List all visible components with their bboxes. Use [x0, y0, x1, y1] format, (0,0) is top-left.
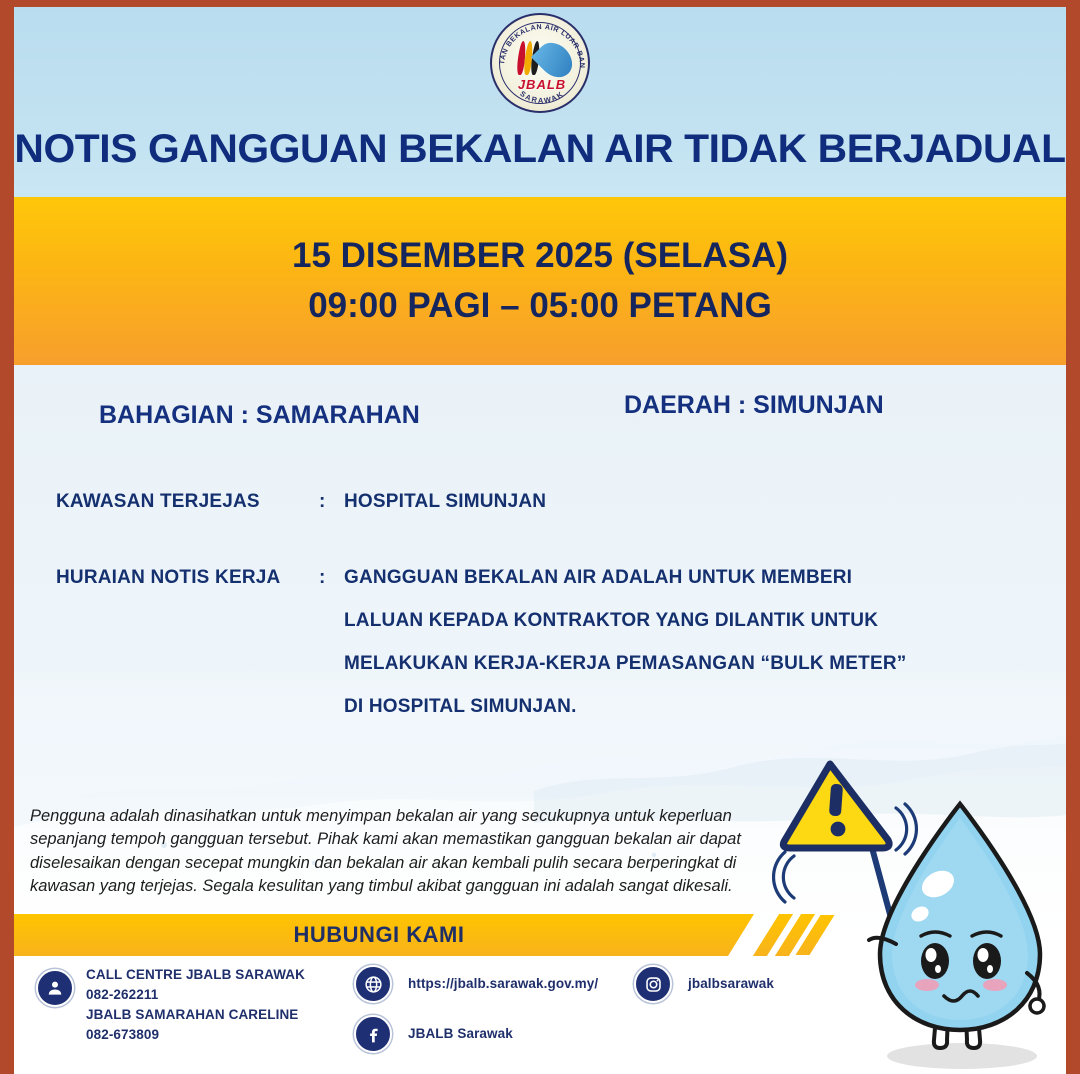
poster-frame: JABATAN BEKALAN AIR LUAR BANDAR SARAWAK … — [0, 0, 1080, 1074]
person-icon — [36, 969, 74, 1007]
call-centre-line-4: 082-673809 — [86, 1025, 305, 1045]
affected-area-label: KAWASAN TERJEJAS — [56, 491, 260, 513]
works-description-label: HURAIAN NOTIS KERJA — [56, 567, 280, 589]
instagram-icon[interactable] — [634, 965, 672, 1003]
poster-header: JABATAN BEKALAN AIR LUAR BANDAR SARAWAK … — [14, 7, 1066, 197]
works-description-line-4: DI HOSPITAL SIMUNJAN. — [344, 696, 577, 718]
works-description-line-2: LALUAN KEPADA KONTRAKTOR YANG DILANTIK U… — [344, 610, 878, 632]
globe-icon[interactable] — [354, 965, 392, 1003]
website-url[interactable]: https://jbalb.sarawak.gov.my/ — [408, 974, 598, 994]
works-description-line-3: MELAKUKAN KERJA-KERJA PEMASANGAN “BULK M… — [344, 653, 906, 675]
instagram-handle[interactable]: jbalbsarawak — [688, 974, 774, 994]
call-centre-line-2: 082-262211 — [86, 985, 305, 1005]
poster-inner: JABATAN BEKALAN AIR LUAR BANDAR SARAWAK … — [14, 7, 1066, 1074]
works-description-colon: : — [319, 567, 325, 589]
schedule-band: 15 DISEMBER 2025 (SELASA) 09:00 PAGI – 0… — [14, 197, 1066, 365]
water-droplet-mascot — [772, 748, 1066, 1074]
poster-body: BAHAGIAN : SAMARAHAN DAERAH : SIMUNJAN K… — [14, 365, 1066, 1074]
call-centre-line-3: JBALB SAMARAHAN CARELINE — [86, 1005, 305, 1025]
region-row: BAHAGIAN : SAMARAHAN DAERAH : SIMUNJAN — [14, 401, 1066, 441]
contact-banner-title: HUBUNGI KAMI — [294, 922, 475, 948]
logo-wordmark: JBALB — [492, 77, 590, 92]
page-title: NOTIS GANGGUAN BEKALAN AIR TIDAK BERJADU… — [14, 127, 1066, 172]
call-centre-text: CALL CENTRE JBALB SARAWAK 082-262211 JBA… — [86, 965, 305, 1045]
schedule-time: 09:00 PAGI – 05:00 PETANG — [308, 281, 772, 331]
facebook-handle[interactable]: JBALB Sarawak — [408, 1024, 513, 1044]
affected-area-colon: : — [319, 491, 325, 513]
logo-jbalb: JABATAN BEKALAN AIR LUAR BANDAR SARAWAK … — [490, 13, 590, 113]
call-centre-line-1: CALL CENTRE JBALB SARAWAK — [86, 965, 305, 985]
warning-triangle-sign — [783, 764, 889, 848]
advisory-text: Pengguna adalah dinasihatkan untuk menyi… — [30, 805, 770, 899]
facebook-icon[interactable] — [354, 1015, 392, 1053]
district-label: DAERAH : SIMUNJAN — [624, 391, 884, 420]
works-description-line-1: GANGGUAN BEKALAN AIR ADALAH UNTUK MEMBER… — [344, 567, 852, 589]
division-label: BAHAGIAN : SAMARAHAN — [99, 401, 420, 430]
schedule-date: 15 DISEMBER 2025 (SELASA) — [292, 231, 788, 281]
affected-area-value: HOSPITAL SIMUNJAN — [344, 491, 546, 513]
